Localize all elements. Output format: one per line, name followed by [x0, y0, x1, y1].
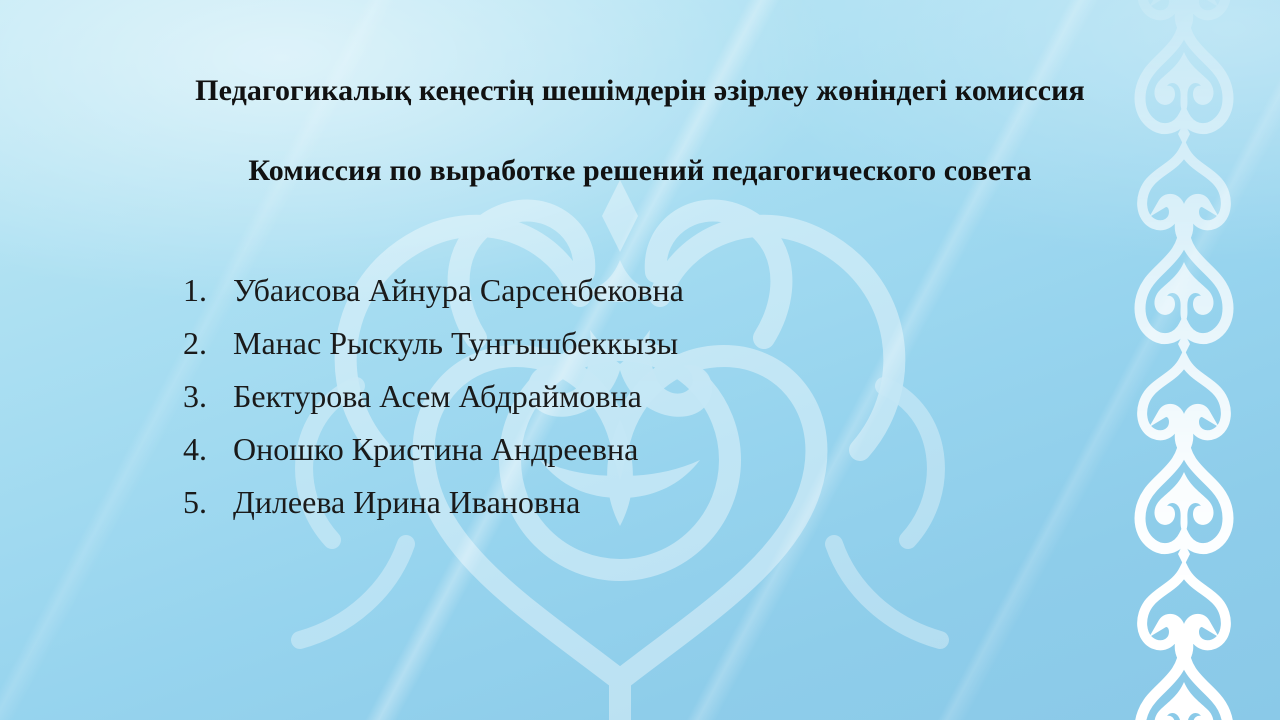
list-item: 4. Оношко Кристина Андреевна	[183, 431, 684, 484]
list-item-name: Бектурова Асем Абдраймовна	[233, 378, 642, 415]
list-item-name: Убаисова Айнура Сарсенбековна	[233, 272, 684, 309]
title-russian: Комиссия по выработке решений педагогиче…	[0, 152, 1280, 190]
list-item-number: 5.	[183, 484, 233, 521]
list-item-number: 2.	[183, 325, 233, 362]
commission-member-list: 1. Убаисова Айнура Сарсенбековна 2. Мана…	[183, 272, 684, 537]
list-item-number: 4.	[183, 431, 233, 468]
list-item: 1. Убаисова Айнура Сарсенбековна	[183, 272, 684, 325]
list-item-number: 3.	[183, 378, 233, 415]
list-item-name: Оношко Кристина Андреевна	[233, 431, 638, 468]
slide-content: Педагогикалық кеңестің шешімдерін әзірле…	[0, 0, 1280, 720]
list-item: 3. Бектурова Асем Абдраймовна	[183, 378, 684, 431]
list-item-name: Манас Рыскуль Тунгышбеккызы	[233, 325, 678, 362]
slide-canvas: Педагогикалық кеңестің шешімдерін әзірле…	[0, 0, 1280, 720]
list-item-name: Дилеева Ирина Ивановна	[233, 484, 580, 521]
list-item: 2. Манас Рыскуль Тунгышбеккызы	[183, 325, 684, 378]
title-block: Педагогикалық кеңестің шешімдерін әзірле…	[0, 72, 1280, 190]
list-item-number: 1.	[183, 272, 233, 309]
title-kazakh: Педагогикалық кеңестің шешімдерін әзірле…	[0, 72, 1280, 110]
list-item: 5. Дилеева Ирина Ивановна	[183, 484, 684, 537]
